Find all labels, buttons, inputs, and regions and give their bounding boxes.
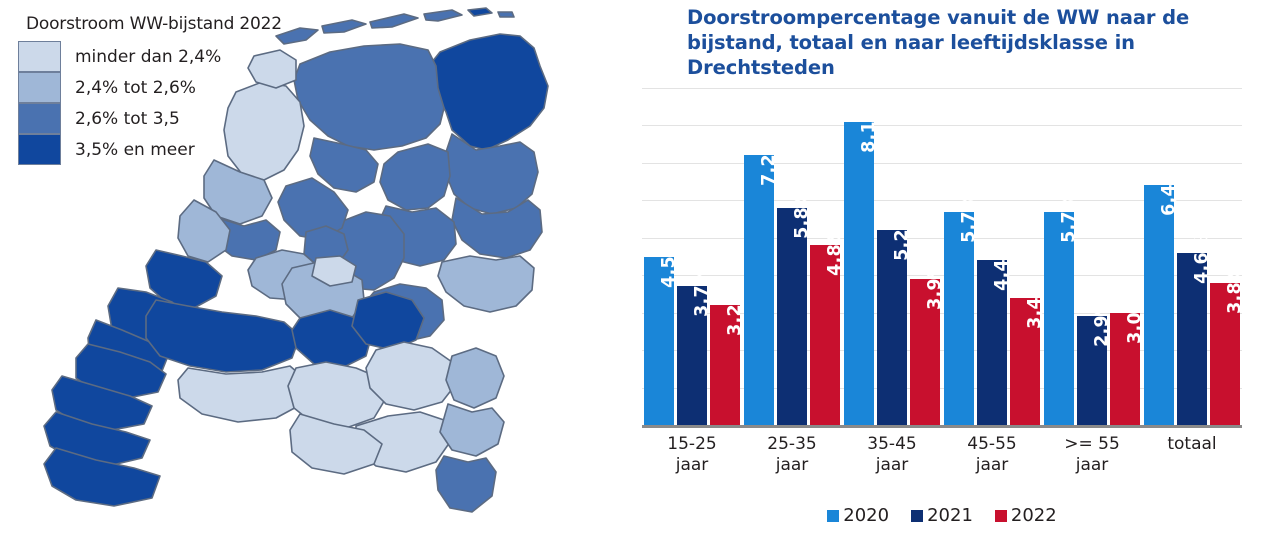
legend-swatch-class-4: [18, 134, 61, 165]
bar-2020-1[interactable]: 4,5%: [644, 257, 674, 426]
category-label-line: 45-55: [942, 434, 1042, 455]
bar-2020-4[interactable]: 5,7%: [944, 212, 974, 425]
bar-value-label: 3,4%: [1025, 279, 1045, 329]
bar-group: 4,5%3,7%3,2%: [642, 88, 742, 425]
bar-value-label: 4,6%: [1192, 234, 1212, 284]
legend-label-2022: 2022: [1011, 505, 1057, 526]
map-legend: Doorstroom WW-bijstand 2022 minder dan 2…: [18, 14, 318, 165]
map-panel: Doorstroom WW-bijstand 2022 minder dan 2…: [0, 0, 615, 544]
map-region-noord-limburg[interactable]: [446, 348, 504, 408]
legend-label-class-2: 2,4% tot 2,6%: [75, 78, 196, 98]
category-label-line: >= 55: [1042, 434, 1142, 455]
bar-group: 5,7%4,4%3,4%: [942, 88, 1042, 425]
chart-title: Doorstroompercentage vanuit de WW naar d…: [687, 6, 1267, 81]
bar-value-label: 3,8%: [1225, 264, 1245, 314]
map-region-west-noord-brabant[interactable]: [178, 366, 306, 422]
bar-2022-4[interactable]: 3,4%: [1010, 298, 1040, 425]
bar-2022-6[interactable]: 3,8%: [1210, 283, 1240, 425]
map-region-midden-limburg[interactable]: [440, 404, 504, 456]
bar-2021-2[interactable]: 5,8%: [777, 208, 807, 425]
category-label-4: 45-55jaar: [942, 434, 1042, 477]
legend-label-2020: 2020: [843, 505, 889, 526]
bar-2021-4[interactable]: 4,4%: [977, 260, 1007, 425]
legend-item-class-2: 2,4% tot 2,6%: [18, 72, 318, 103]
bar-value-label: 3,7%: [692, 268, 712, 318]
category-label-6: totaal: [1142, 434, 1242, 477]
legend-swatch-class-1: [18, 41, 61, 72]
bar-chart-panel: Doorstroompercentage vanuit de WW naar d…: [615, 0, 1280, 544]
infographic-root: Doorstroom WW-bijstand 2022 minder dan 2…: [0, 0, 1280, 544]
bar-value-label: 4,8%: [825, 226, 845, 276]
legend-item-class-4: 3,5% en meer: [18, 134, 318, 165]
legend-swatch-class-3: [18, 103, 61, 134]
category-label-line: jaar: [742, 455, 842, 476]
bar-2021-5[interactable]: 2,9%: [1077, 316, 1107, 425]
legend-label-2021: 2021: [927, 505, 973, 526]
legend-item-class-1: minder dan 2,4%: [18, 41, 318, 72]
map-legend-items: minder dan 2,4% 2,4% tot 2,6% 2,6% tot 3…: [18, 41, 318, 165]
map-region-groningen[interactable]: [430, 34, 548, 150]
bar-2022-1[interactable]: 3,2%: [710, 305, 740, 425]
category-label-line: jaar: [1042, 455, 1142, 476]
chart-x-axis: [642, 425, 1242, 428]
bar-2021-6[interactable]: 4,6%: [1177, 253, 1207, 425]
category-label-1: 15-25jaar: [642, 434, 742, 477]
legend-item-2021[interactable]: 2021: [911, 505, 973, 526]
map-region-zuid-limburg[interactable]: [436, 456, 496, 512]
category-label-line: jaar: [842, 455, 942, 476]
bar-2022-3[interactable]: 3,9%: [910, 279, 940, 425]
bar-group: 7,2%5,8%4,8%: [742, 88, 842, 425]
bar-2020-5[interactable]: 5,7%: [1044, 212, 1074, 425]
legend-item-class-3: 2,6% tot 3,5: [18, 103, 318, 134]
bar-value-label: 6,4%: [1159, 166, 1179, 216]
bar-value-label: 3,0%: [1125, 294, 1145, 344]
bar-value-label: 3,2%: [725, 286, 745, 336]
bar-value-label: 4,5%: [659, 238, 679, 288]
map-legend-title: Doorstroom WW-bijstand 2022: [26, 14, 318, 34]
chart-category-labels: 15-25jaar25-35jaar35-45jaar45-55jaar>= 5…: [642, 434, 1242, 477]
category-label-line: 15-25: [642, 434, 742, 455]
map-region-wadden-vlieland[interactable]: [322, 20, 366, 33]
legend-swatch-2021: [911, 510, 923, 522]
bar-value-label: 8,1%: [859, 103, 879, 153]
category-label-line: jaar: [942, 455, 1042, 476]
category-label-line: totaal: [1142, 434, 1242, 455]
legend-swatch-2022: [995, 510, 1007, 522]
legend-item-2022[interactable]: 2022: [995, 505, 1057, 526]
bar-value-label: 5,8%: [792, 189, 812, 239]
map-region-achterhoek[interactable]: [438, 256, 534, 312]
legend-label-class-4: 3,5% en meer: [75, 140, 195, 160]
map-region-overijssel-noord[interactable]: [380, 144, 450, 210]
category-label-line: 35-45: [842, 434, 942, 455]
legend-swatch-class-2: [18, 72, 61, 103]
bar-value-label: 7,2%: [759, 137, 779, 187]
bar-2021-3[interactable]: 5,2%: [877, 230, 907, 425]
map-region-wadden-terschelling[interactable]: [370, 14, 418, 28]
legend-label-class-1: minder dan 2,4%: [75, 47, 221, 67]
map-region-wadden-schier[interactable]: [468, 8, 492, 16]
bar-2021-1[interactable]: 3,7%: [677, 286, 707, 425]
map-region-groot-rijnmond[interactable]: [146, 300, 300, 372]
bar-group: 8,1%5,2%3,9%: [842, 88, 942, 425]
bar-value-label: 5,7%: [959, 193, 979, 243]
bar-2020-6[interactable]: 6,4%: [1144, 185, 1174, 425]
category-label-5: >= 55jaar: [1042, 434, 1142, 477]
legend-item-2020[interactable]: 2020: [827, 505, 889, 526]
bar-value-label: 4,4%: [992, 241, 1012, 291]
category-label-3: 35-45jaar: [842, 434, 942, 477]
legend-swatch-2020: [827, 510, 839, 522]
bar-2020-3[interactable]: 8,1%: [844, 122, 874, 425]
map-region-wadden-rottum[interactable]: [498, 12, 514, 17]
bar-value-label: 3,9%: [925, 260, 945, 310]
bar-value-label: 2,9%: [1092, 298, 1112, 348]
category-label-line: jaar: [642, 455, 742, 476]
legend-label-class-3: 2,6% tot 3,5: [75, 109, 180, 129]
bar-2022-5[interactable]: 3,0%: [1110, 313, 1140, 425]
bar-2020-2[interactable]: 7,2%: [744, 155, 774, 425]
category-label-2: 25-35jaar: [742, 434, 842, 477]
category-label-line: 25-35: [742, 434, 842, 455]
chart-legend: 202020212022: [642, 505, 1242, 526]
bar-group: 6,4%4,6%3,8%: [1142, 88, 1242, 425]
bar-2022-2[interactable]: 4,8%: [810, 245, 840, 425]
bar-value-label: 5,2%: [892, 211, 912, 261]
chart-bar-groups: 4,5%3,7%3,2%7,2%5,8%4,8%8,1%5,2%3,9%5,7%…: [642, 88, 1242, 425]
bar-value-label: 5,7%: [1059, 193, 1079, 243]
map-region-wadden-ameland[interactable]: [424, 10, 462, 21]
bar-group: 5,7%2,9%3,0%: [1042, 88, 1142, 425]
